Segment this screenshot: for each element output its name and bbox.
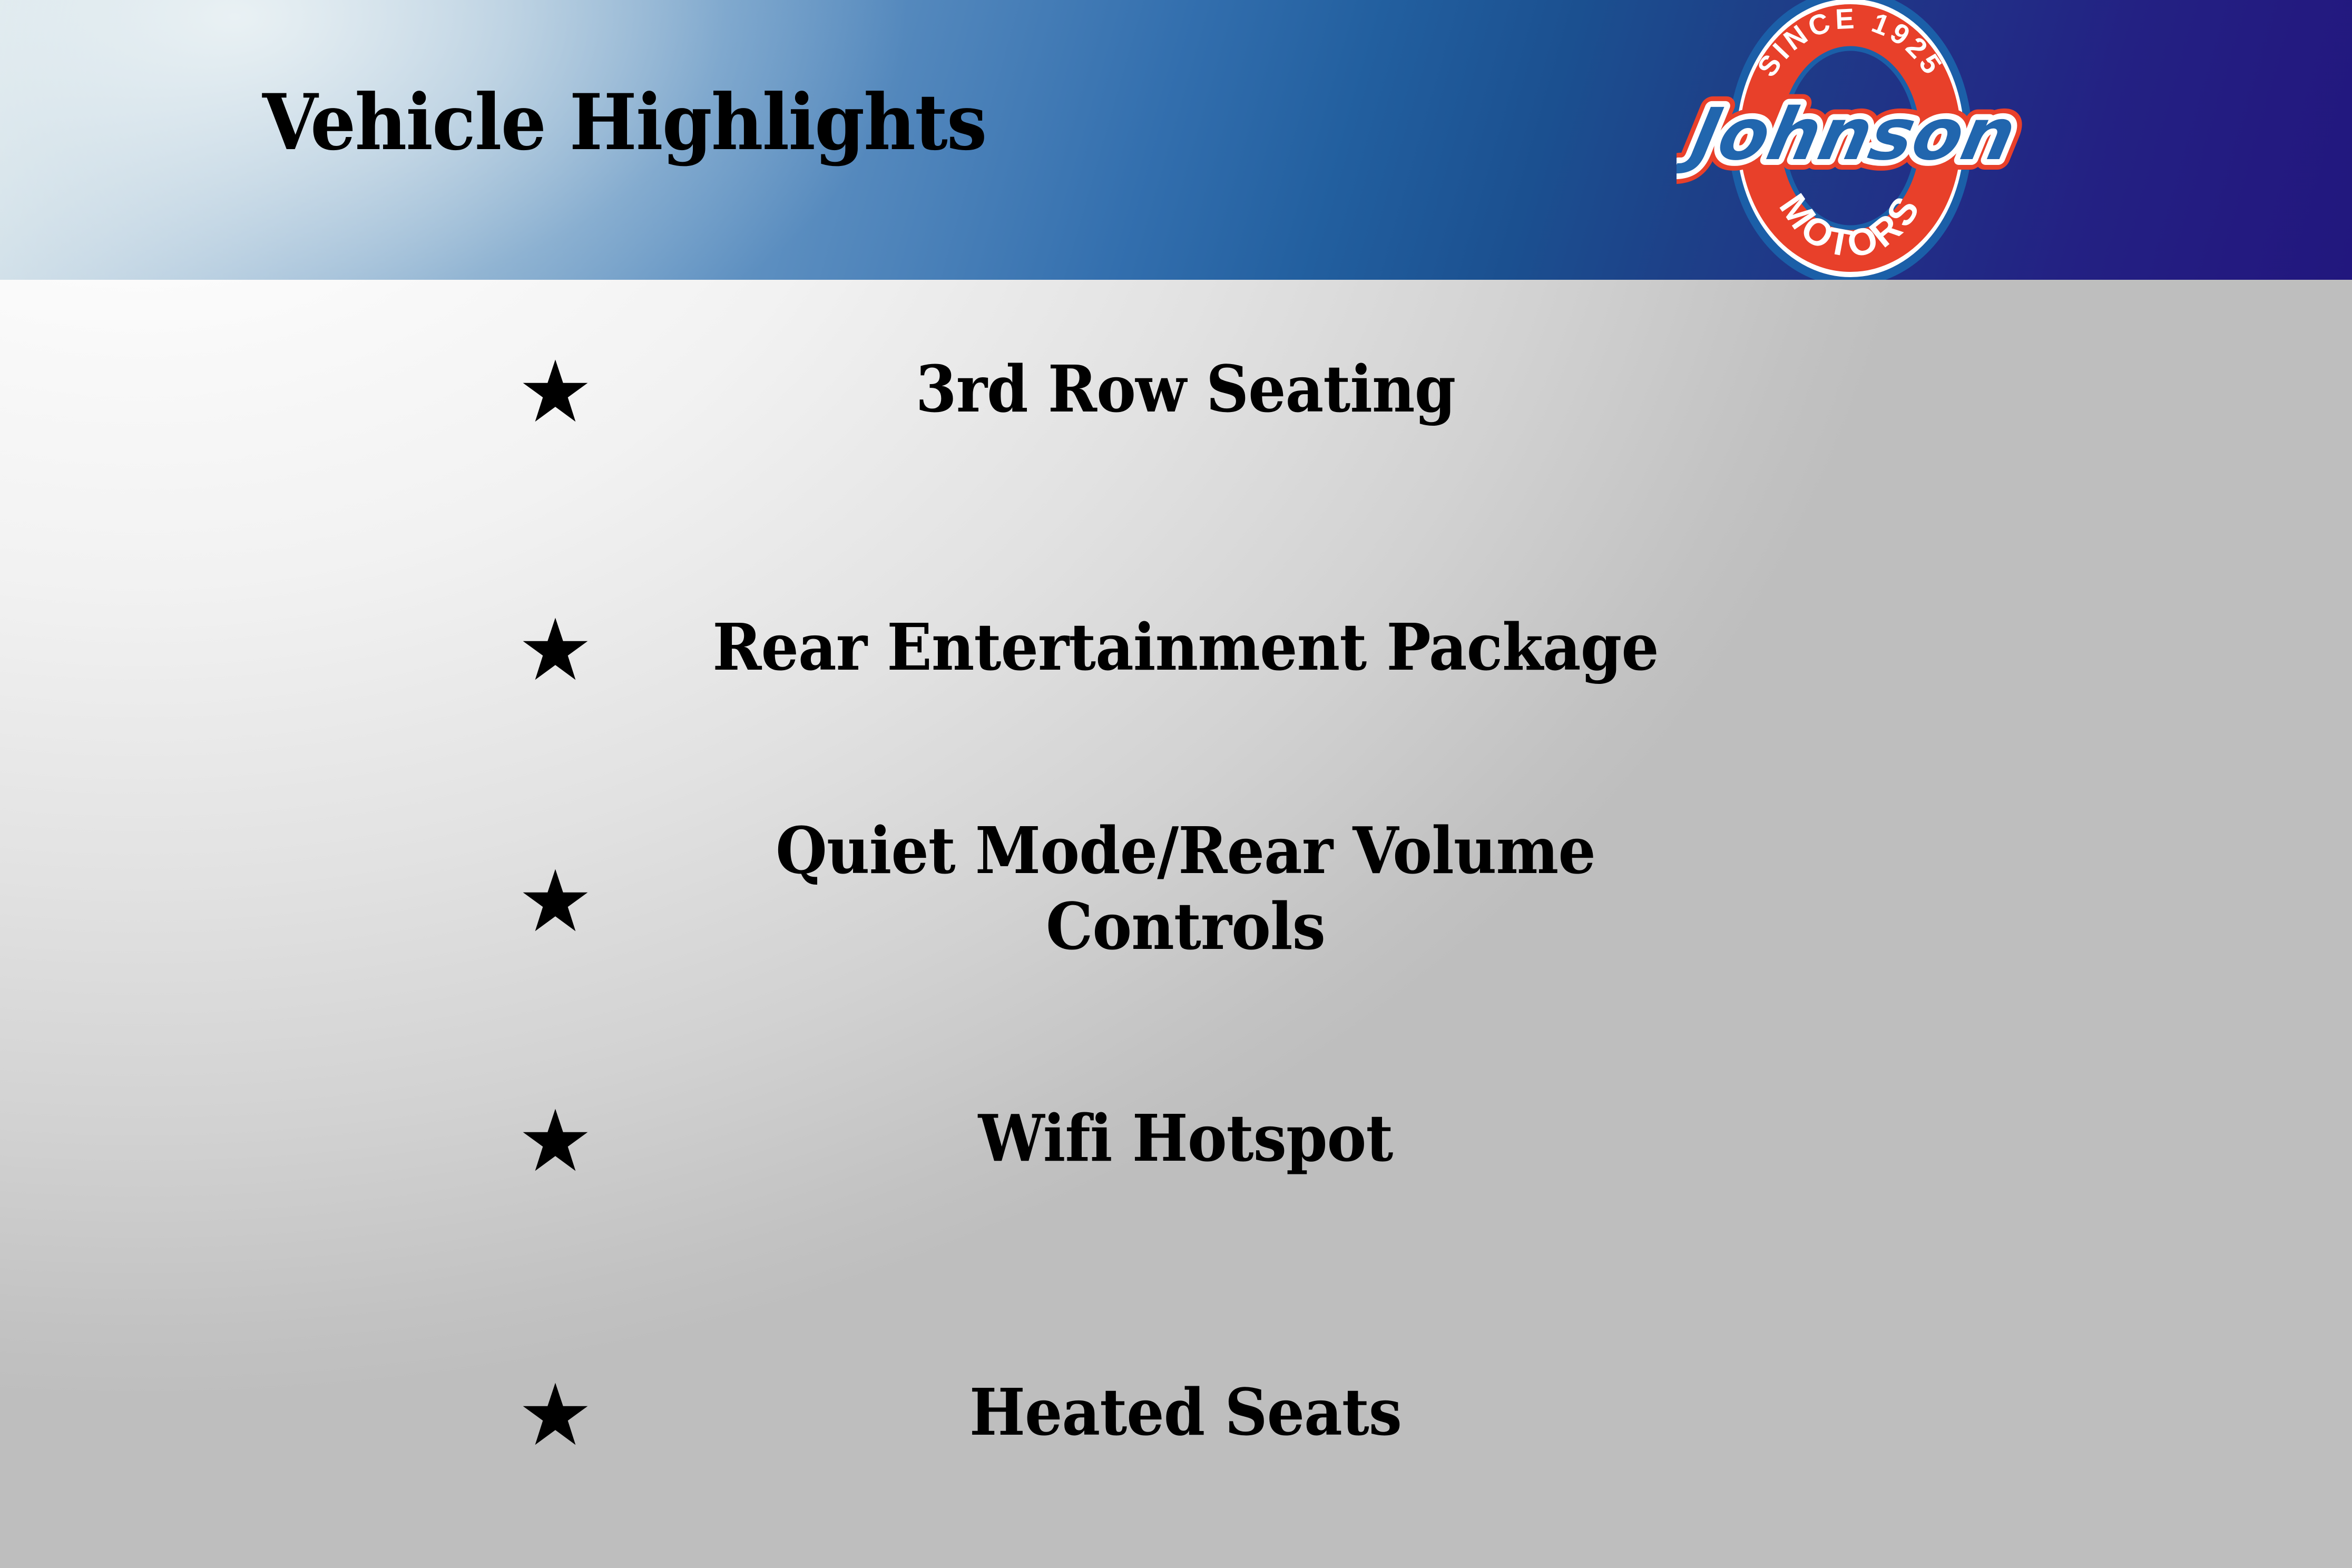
star-icon xyxy=(522,868,589,935)
list-item: 3rd Row Seating xyxy=(0,342,1802,442)
highlights-list: 3rd Row Seating Rear Entertainment Packa… xyxy=(0,280,2352,1568)
list-item-label: 3rd Row Seating xyxy=(657,351,1714,427)
star-icon xyxy=(522,1381,589,1449)
list-item: Wifi Hotspot xyxy=(0,1091,1802,1191)
list-item-label: Rear Entertainment Package xyxy=(657,610,1714,685)
star-icon xyxy=(522,1108,589,1175)
list-item: Rear Entertainment Package xyxy=(0,600,1802,700)
header-banner: Vehicle Highlights SINCE 1925 xyxy=(0,0,2352,280)
star-icon xyxy=(522,616,589,684)
list-item: Quiet Mode/Rear Volume Controls xyxy=(0,817,1802,986)
list-item-label: Wifi Hotspot xyxy=(657,1101,1714,1177)
page-title: Vehicle Highlights xyxy=(262,84,986,161)
slide-canvas: Vehicle Highlights SINCE 1925 xyxy=(0,0,2352,1568)
list-item-label: Quiet Mode/Rear Volume Controls xyxy=(657,813,1714,965)
list-item-label: Heated Seats xyxy=(657,1375,1714,1451)
svg-text:Johnson: Johnson xyxy=(1677,93,2023,176)
list-item: Heated Seats xyxy=(0,1365,1802,1465)
logo-wordmark: Johnson Johnson Johnson xyxy=(1677,93,2023,176)
star-icon xyxy=(522,358,589,426)
johnson-motors-logo: SINCE 1925 MOTORS Johnson Johnson Johnso… xyxy=(1677,0,2024,280)
